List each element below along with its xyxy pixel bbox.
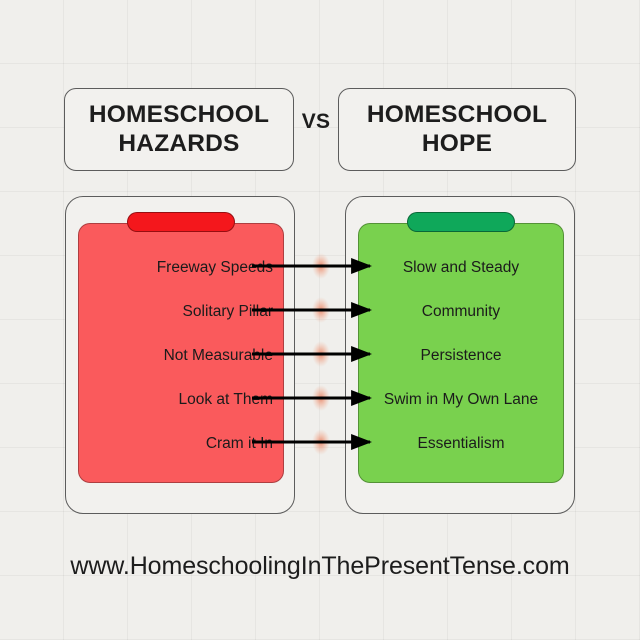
hazard-item: Look at Them [79,389,283,411]
hope-item: Persistence [359,345,563,367]
hazards-clipboard: Freeway SpeedsSolitary PillarNot Measura… [65,196,295,514]
hope-item: Swim in My Own Lane [359,389,563,411]
hope-header: HOMESCHOOL HOPE [338,88,576,171]
hope-item: Essentialism [359,433,563,455]
hope-header-line2: HOPE [345,129,569,158]
hope-clipboard: Slow and SteadyCommunityPersistenceSwim … [345,196,575,514]
hazards-item-list: Freeway SpeedsSolitary PillarNot Measura… [79,224,283,482]
connector-diamond-icon [312,385,330,411]
hazard-item: Cram it In [79,433,283,455]
hazard-item: Solitary Pillar [79,301,283,323]
hope-clip-icon [407,212,515,232]
hope-item: Slow and Steady [359,257,563,279]
versus-label: VS [296,110,336,134]
hope-item-list: Slow and SteadyCommunityPersistenceSwim … [359,224,563,482]
hazard-item: Not Measurable [79,345,283,367]
connector-diamond-icon [312,341,330,367]
hazard-item: Freeway Speeds [79,257,283,279]
hazards-header-box: HOMESCHOOL HAZARDS [64,88,294,171]
connector-diamond-icon [312,429,330,455]
hazards-header-line2: HAZARDS [71,129,287,158]
website-url: www.HomeschoolingInThePresentTense.com [0,552,640,581]
hope-header-line1: HOMESCHOOL [345,100,569,129]
connector-diamond-icon [312,297,330,323]
hope-header-box: HOMESCHOOL HOPE [338,88,576,171]
hazards-panel: Freeway SpeedsSolitary PillarNot Measura… [78,223,284,483]
hazards-header: HOMESCHOOL HAZARDS [64,88,294,171]
hazards-header-line1: HOMESCHOOL [71,100,287,129]
hope-panel: Slow and SteadyCommunityPersistenceSwim … [358,223,564,483]
header-row: HOMESCHOOL HAZARDS VS HOMESCHOOL HOPE [0,0,640,175]
hazards-clip-icon [127,212,235,232]
connector-diamond-icon [312,253,330,279]
hope-item: Community [359,301,563,323]
